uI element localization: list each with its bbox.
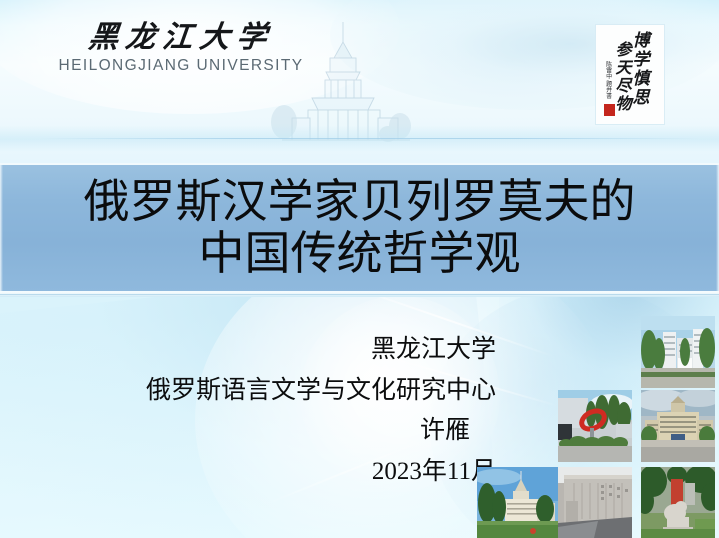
title-slide: 黑龙江大学 HEILONGJIANG UNIVERSITY 博学慎思 参天尽物 …	[0, 0, 719, 538]
research-center-line: 俄罗斯语言文学与文化研究中心	[0, 371, 540, 412]
photo-campus-sculpture	[558, 390, 632, 462]
header-divider-line	[40, 138, 700, 139]
page-title: 俄罗斯汉学家贝列罗莫夫的 中国传统哲学观	[30, 176, 690, 279]
logo-english-name: HEILONGJIANG UNIVERSITY	[56, 57, 306, 75]
title-line-2: 中国传统哲学观	[30, 228, 690, 280]
band-edge-left	[0, 165, 3, 291]
date-line: 2023年11月	[0, 452, 540, 493]
calligraphy-motto: 博学慎思 参天尽物 陈雷中 題并書	[596, 25, 664, 124]
motto-signature: 陈雷中 題并書	[604, 61, 611, 99]
author-line: 许雁	[0, 411, 540, 452]
university-logo: 黑龙江大学 HEILONGJIANG UNIVERSITY	[56, 22, 306, 75]
title-slide-subtext: 黑龙江大学 俄罗斯语言文学与文化研究中心 许雁 2023年11月	[0, 330, 540, 492]
photo-campus-main-building	[641, 390, 715, 462]
title-line-1: 俄罗斯汉学家贝列罗莫夫的	[30, 176, 690, 228]
photo-stone-wall-inscription	[558, 467, 632, 538]
motto-column-1: 博学慎思	[631, 31, 648, 118]
photo-campus-modern-buildings	[641, 316, 715, 388]
red-seal-icon	[604, 104, 615, 116]
photo-campus-stone-statue	[641, 467, 715, 538]
photo-campus-spire-building	[477, 467, 558, 538]
header-cloud	[420, 4, 719, 84]
slide-header: 黑龙江大学 HEILONGJIANG UNIVERSITY 博学慎思 参天尽物 …	[0, 0, 719, 163]
title-band-divider	[0, 292, 719, 297]
affiliation-line: 黑龙江大学	[0, 330, 540, 371]
logo-chinese-name: 黑龙江大学	[54, 22, 307, 54]
title-band: 俄罗斯汉学家贝列罗莫夫的 中国传统哲学观	[0, 163, 719, 292]
